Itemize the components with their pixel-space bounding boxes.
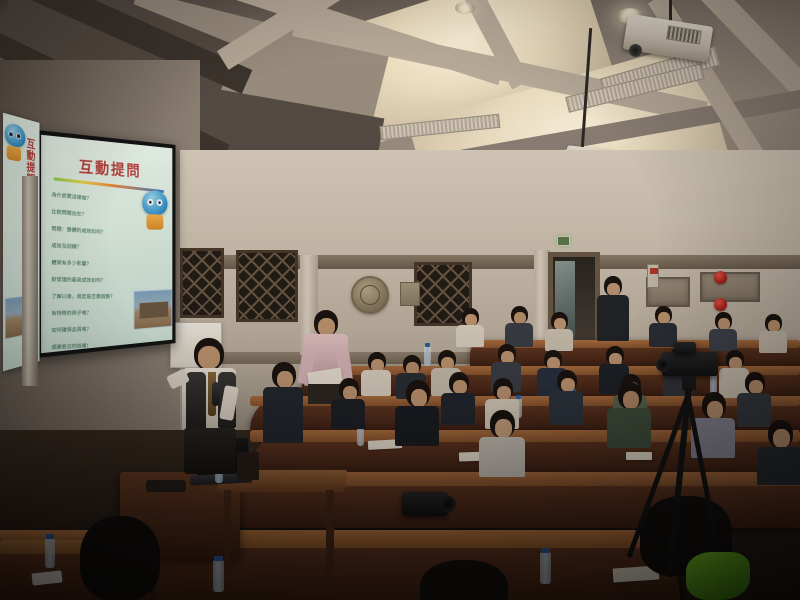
mascot-eye-right bbox=[157, 199, 163, 206]
presenter-speaker bbox=[168, 338, 248, 473]
bottle-cap-front-center bbox=[214, 556, 223, 561]
attendee-r5-6-hair bbox=[765, 314, 782, 332]
camera-viewfinder bbox=[674, 342, 696, 354]
attendee-r4-5-hair bbox=[544, 350, 562, 369]
slide-photo-building bbox=[140, 301, 169, 318]
attendee-r5-3 bbox=[544, 312, 574, 346]
water-bottle-front-left bbox=[45, 538, 55, 568]
attendee-r3-4 bbox=[548, 370, 584, 422]
attendee-r3-4-face bbox=[561, 378, 575, 392]
handheld-microphone[interactable] bbox=[212, 382, 219, 406]
attendee-r3-2-face bbox=[453, 380, 467, 394]
attendee-r2-3-face bbox=[495, 419, 512, 438]
decorative-lattice-panel-far-left bbox=[180, 248, 224, 318]
attendee-r5-3-hair bbox=[551, 312, 568, 330]
questioner-hair bbox=[314, 310, 338, 336]
ceiling-downlight-2 bbox=[455, 2, 475, 14]
side-table-leg-right bbox=[326, 490, 334, 582]
attendee-r3-2-body bbox=[441, 393, 475, 425]
attendee-r5-2-hair bbox=[511, 306, 528, 324]
camera-lens bbox=[656, 358, 670, 372]
slide-bullet-3: 問題：整體的成效如何？ bbox=[51, 225, 105, 236]
attendee-r3-1-body bbox=[331, 399, 365, 429]
slide-mascot-graphic bbox=[140, 190, 169, 233]
presenter-hair bbox=[194, 338, 224, 370]
presenter-trousers bbox=[184, 428, 236, 474]
attendee-r2-3 bbox=[478, 410, 526, 472]
podium-equipment-box bbox=[146, 480, 186, 492]
camera-equipment-secondary-lens bbox=[440, 496, 456, 512]
fire-alarm-bell-lower bbox=[714, 298, 727, 311]
attendee-r2-2-hair bbox=[406, 380, 430, 407]
water-bottle-front-right bbox=[540, 552, 551, 584]
attendee-r4-3-hair bbox=[438, 350, 456, 369]
slide-bullet-2: 比較問題出在？ bbox=[51, 208, 86, 218]
attendee-r5-standing-body bbox=[597, 295, 629, 341]
tripod-leg-left bbox=[684, 388, 722, 561]
mascot-body bbox=[146, 214, 163, 230]
attendee-r3-3-hair bbox=[493, 378, 513, 400]
cork-notice-board-2 bbox=[700, 272, 760, 302]
attendee-r5-5 bbox=[708, 312, 738, 346]
attendee-r5-5-hair bbox=[715, 312, 732, 330]
attendee-r2-3-body bbox=[479, 437, 525, 477]
attendee-r5-4 bbox=[648, 306, 678, 342]
attendee-r3-2-hair bbox=[449, 372, 469, 394]
attendee-r2-1-face bbox=[277, 371, 293, 388]
projection-screen-surface: 互動提問 為什麼要這樣做？ 比較問題出在？ 問題：整體的成效如何？ 成效及回饋？… bbox=[41, 135, 172, 353]
slide-bullet-5: 體質有多少影響？ bbox=[51, 259, 91, 268]
attendee-front-2 bbox=[420, 560, 512, 600]
bottle-cap-front-left bbox=[46, 534, 54, 539]
decorative-lattice-panel-left bbox=[236, 250, 298, 322]
attendee-r4-4-hair bbox=[498, 344, 516, 363]
projector-lens-front bbox=[629, 44, 642, 57]
attendee-r2-1 bbox=[262, 362, 304, 440]
attendee-r5-3-body bbox=[545, 329, 573, 351]
attendee-r3-4-hair bbox=[557, 370, 577, 392]
mascot-head bbox=[142, 190, 167, 216]
attendee-r5-2 bbox=[504, 306, 534, 342]
side-mascot-eye-left bbox=[8, 131, 13, 138]
attendee-r5-4-body bbox=[649, 323, 677, 347]
slide-bullet-10: 感謝各位的指導！ bbox=[51, 342, 91, 351]
slide-bullet-1: 為什麼要這樣做？ bbox=[51, 191, 91, 202]
attendee-r5-6 bbox=[758, 314, 788, 348]
attendee-r3-1-face bbox=[343, 386, 357, 400]
side-table-leg-left bbox=[224, 490, 231, 576]
camera-body[interactable] bbox=[662, 352, 718, 376]
projection-screen-main: 互動提問 為什麼要這樣做？ 比較問題出在？ 問題：整體的成效如何？ 成效及回饋？… bbox=[37, 130, 176, 358]
attendee-r2-1-body bbox=[263, 387, 303, 443]
attendee-r2-2 bbox=[394, 380, 440, 442]
attendee-r5-4-hair bbox=[655, 306, 672, 324]
attendee-r2-2-body bbox=[395, 406, 439, 446]
attendee-r4-1-hair bbox=[368, 352, 386, 371]
fire-alarm-panel bbox=[647, 264, 659, 288]
slide-photo bbox=[133, 289, 172, 330]
side-mascot-eye-right bbox=[16, 133, 21, 140]
presenter-face bbox=[198, 346, 220, 369]
slide-bullet-9: 如何確保品質嗎？ bbox=[51, 326, 91, 334]
attendee-r5-1-hair bbox=[462, 308, 479, 326]
bottle-cap-row5-a bbox=[425, 343, 430, 347]
lecture-hall-photo: 互動提問 為什麼要這樣做？ 比較問題出在？ 問題：整體的成效如何？ 成效及回饋？… bbox=[0, 0, 800, 600]
slide-bullet-7: 了解以後，我定是否要調整？ bbox=[51, 293, 114, 300]
exit-sign bbox=[557, 236, 570, 246]
mascot-eye-left bbox=[147, 199, 153, 206]
slide-bullet-6: 對管理的最高成效如何？ bbox=[51, 276, 105, 284]
attendee-r3-1-hair bbox=[339, 378, 359, 400]
attendee-front-2-hair bbox=[420, 560, 508, 600]
attendee-r5-standing-hair bbox=[604, 276, 622, 296]
seal-inner-ring bbox=[360, 285, 380, 305]
attendee-r3-2 bbox=[440, 372, 476, 422]
attendee-r3-4-body bbox=[549, 391, 583, 425]
fire-panel-indicator bbox=[650, 268, 658, 274]
attendee-r2-1-hair bbox=[272, 362, 296, 388]
attendee-r5-1-body bbox=[456, 325, 484, 347]
side-mascot-body bbox=[7, 145, 22, 162]
institutional-seal-plaque bbox=[351, 276, 389, 314]
attendee-r2-2-face bbox=[411, 389, 427, 407]
green-bag bbox=[686, 552, 750, 600]
attendee-r3-1 bbox=[330, 378, 366, 426]
fire-alarm-bell-upper bbox=[714, 271, 727, 284]
water-bottle-front-center bbox=[213, 560, 224, 592]
attendee-r2-3-hair bbox=[490, 410, 515, 438]
slide-bullet-8: 有特殊的例子嗎？ bbox=[51, 309, 91, 317]
projector-mount-pole-front bbox=[669, 0, 672, 22]
attendee-front-1 bbox=[80, 516, 164, 600]
attendee-r4-2-hair bbox=[403, 355, 421, 374]
bottle-cap-front-right bbox=[541, 548, 550, 553]
attendee-front-1-hair bbox=[80, 516, 160, 600]
screen-support-column bbox=[22, 176, 38, 386]
attendee-r3-3-face bbox=[497, 386, 511, 400]
attendee-r5-1 bbox=[455, 308, 485, 342]
attendee-r5-5-body bbox=[709, 329, 737, 351]
attendee-r5-standing bbox=[596, 276, 630, 340]
slide-bullet-4: 成效及回饋？ bbox=[51, 242, 81, 251]
wall-plaque bbox=[400, 282, 420, 306]
